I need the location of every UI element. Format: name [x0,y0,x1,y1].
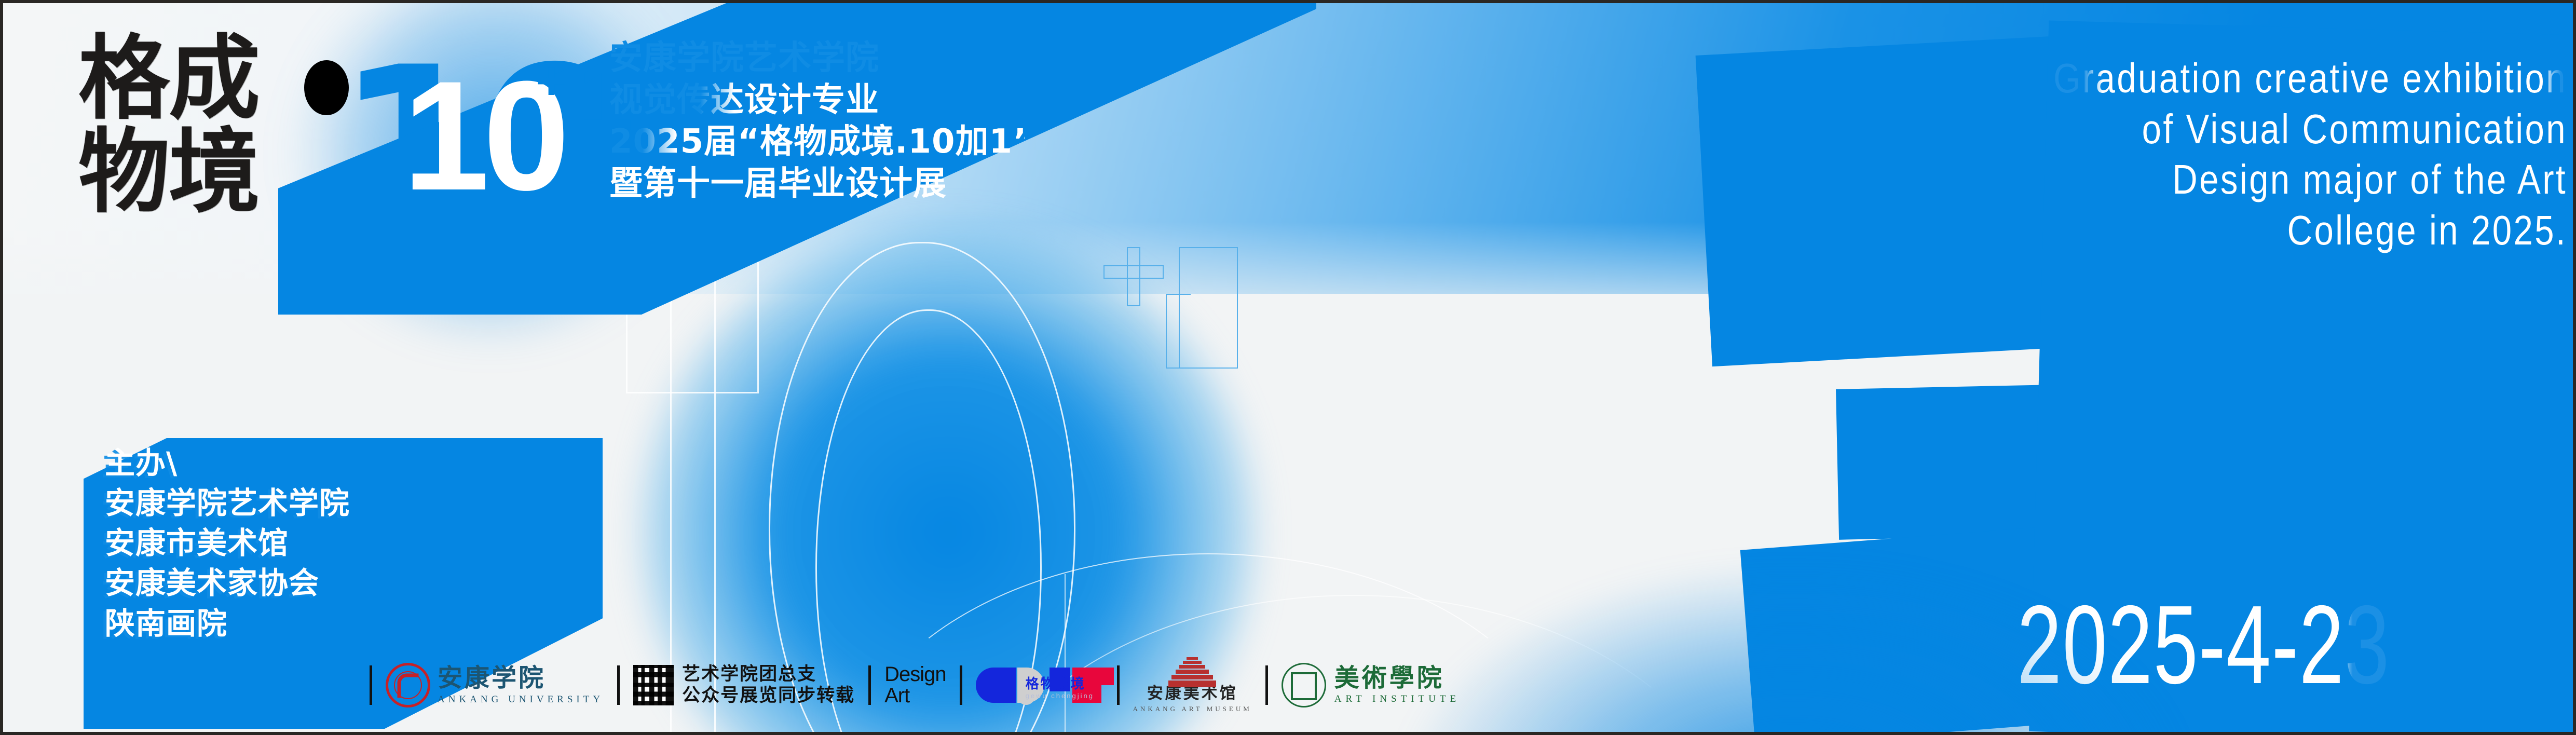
host-item-3: 陕南画院 [105,604,499,644]
ankang-university-seal-icon [386,663,430,707]
divider [370,665,372,705]
host-item-0: 安康学院艺术学院 [105,483,499,523]
exhibition-title-block: 安康学院艺术学院 视觉传达设计专业 2025届“格物成境.10加1” 暨第十一届… [609,37,1025,205]
outline-plus-horizontal-icon [1103,265,1164,279]
seal-mark-icon [398,673,419,698]
english-line-3: Design major of the Art [1931,154,2567,205]
pagoda-icon [1168,657,1216,678]
host-list: 主办\ 安康学院艺术学院 安康市美术馆 安康美术家协会 陕南画院 [105,443,499,644]
bottom-blue-glow [1405,566,2183,735]
design-label: Design [884,664,946,685]
ankang-university-en: ANKANG UNIVERSITY [438,694,604,705]
plus-sign-icon: + [536,54,567,108]
brand-char-row-1: 格成 [78,39,259,118]
title-line-2: 视觉传达设计专业 [609,79,1025,121]
art-institute-logo: 美術學院 ART INSTITUTE [1282,657,1460,713]
gewu-cn: 格物成境 [1026,677,1094,691]
divider [868,665,871,705]
host-label: 主办\ [105,443,499,483]
art-institute-seal-icon [1282,663,1326,707]
divider [960,665,962,705]
art-institute-en: ART INSTITUTE [1334,693,1460,705]
ankang-university-names: 安康学院 ANKANG UNIVERSITY [438,665,604,705]
ankang-university-logo: 安康学院 ANKANG UNIVERSITY [386,657,604,713]
brand-dot-icon [304,60,349,115]
seal-inner-mark-icon [1291,672,1317,700]
brand-char-row-2: 物境 [78,133,259,211]
qr-code-icon[interactable] [633,665,674,705]
english-line-1: Graduation creative exhibition [1931,53,2567,104]
art-museum-en: ANKANG ART MUSEUM [1133,705,1252,713]
gewu-chengjing-logo: 格物成境 gewu chengjing [976,657,1103,713]
art-institute-names: 美術學院 ART INSTITUTE [1334,665,1460,705]
exhibition-poster: 10 格成 物境 10 + 1 安康学院艺术学院 视觉传达设计专业 2025届“… [0,0,2576,735]
gewu-blue-c-icon [976,668,1016,703]
english-description-block: Graduation creative exhibition of Visual… [1931,53,2567,255]
english-line-4: College in 2025. [1931,205,2567,256]
title-line-1: 安康学院艺术学院 [609,37,1025,79]
title-line-3: 2025届“格物成境.10加1” [609,121,1025,163]
english-line-2: of Visual Communication [1931,104,2567,155]
host-item-2: 安康美术家协会 [105,563,499,603]
design-art-lines: Design Art [884,664,946,706]
host-item-1: 安康市美术馆 [105,523,499,563]
gewu-caption: 格物成境 gewu chengjing [1026,677,1094,700]
divider [617,665,620,705]
footer-logo-strip: 安康学院 ANKANG UNIVERSITY 艺术学院团总支 公众号展览同步转载… [356,652,1460,718]
title-line-4: 暨第十一届毕业设计展 [609,163,1025,205]
qr-line-2: 公众号展览同步转载 [682,685,855,706]
qr-line-1: 艺术学院团总支 [682,664,855,685]
gewu-en: gewu chengjing [1026,692,1094,700]
gewu-geometric-mark-icon: 格物成境 gewu chengjing [976,668,1101,703]
art-institute-cn: 美術學院 [1334,665,1460,690]
divider [1265,665,1268,705]
ankang-art-museum-logo: 安康美术馆 ANKANG ART MUSEUM [1133,657,1252,713]
design-art-mark: Design Art [884,657,946,713]
wechat-qr-block[interactable]: 艺术学院团总支 公众号展览同步转载 [633,657,855,713]
art-label: Art [884,685,946,706]
outline-one-flag-icon [1166,294,1191,369]
ankang-university-cn: 安康学院 [438,665,604,690]
divider [1117,665,1120,705]
qr-caption: 艺术学院团总支 公众号展览同步转载 [682,664,855,706]
